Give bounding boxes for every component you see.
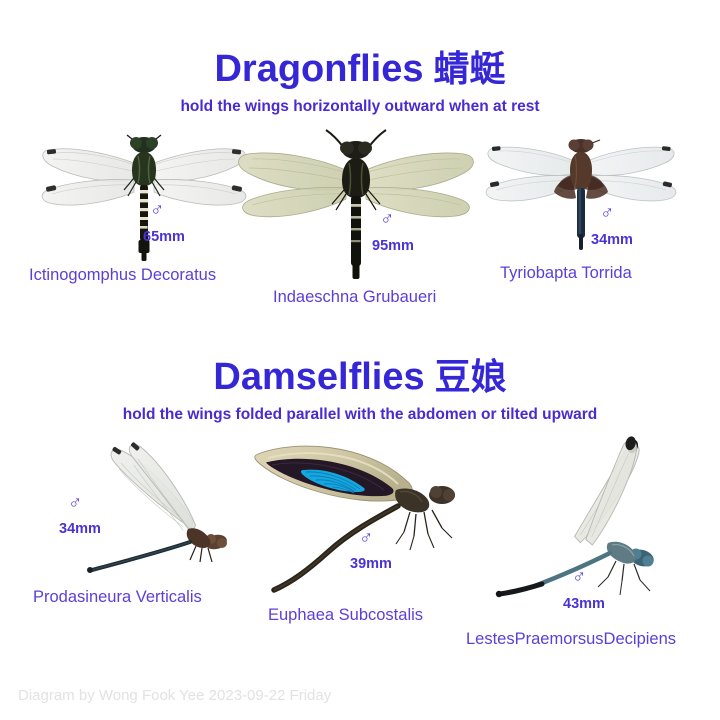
male-symbol-2: ♂: [380, 210, 394, 229]
species-name-euphaea-subcostalis: Euphaea Subcostalis: [268, 607, 423, 624]
specimen-lestes-praemorsus-decipiens: ♂ 43mm: [490, 425, 700, 600]
damselflies-title-en: Damselflies: [213, 356, 424, 398]
damselfly-prodasineura-image: [30, 430, 245, 580]
damselflies-title: Damselflies豆娘: [0, 358, 720, 396]
measure-2: 95mm: [372, 239, 414, 254]
dragonflies-title-cjk: 蜻蜓: [434, 48, 506, 89]
specimen-indaeschna-grubaueri: ♂ 95mm: [232, 126, 480, 281]
measure-5: 39mm: [350, 557, 392, 572]
species-name-lestes-praemorsus-decipiens: LestesPraemorsusDecipiens: [466, 631, 676, 648]
dragonfly-ictinogomphus-image: [28, 128, 258, 268]
damselfly-lestes-image: [490, 425, 700, 600]
specimen-euphaea-subcostalis: ♂ 39mm: [246, 432, 476, 592]
dragonfly-indaeschna-image: [232, 126, 480, 281]
damselflies-title-cjk: 豆娘: [435, 356, 507, 397]
male-symbol-3: ♂: [600, 204, 614, 223]
measure-1: 65mm: [143, 230, 185, 245]
specimen-tyriobapta-torrida: ♂ 34mm: [472, 132, 692, 252]
dragonflies-title: Dragonflies蜻蜓: [0, 50, 720, 88]
specimen-prodasineura-verticalis: ♂ 34mm: [30, 430, 245, 580]
species-name-indaeschna-grubaueri: Indaeschna Grubaueri: [273, 289, 436, 306]
dragonflies-section: Dragonflies蜻蜓 hold the wings horizontall…: [0, 50, 720, 115]
measure-3: 34mm: [591, 233, 633, 248]
specimen-ictinogomphus-decoratus: ♂ 65mm: [28, 128, 258, 268]
damselflies-subtitle: hold the wings folded parallel with the …: [0, 407, 720, 423]
dragonfly-tyriobapta-image: [472, 132, 692, 252]
species-name-ictinogomphus-decoratus: Ictinogomphus Decoratus: [29, 267, 216, 284]
diagram-credit: Diagram by Wong Fook Yee 2023-09-22 Frid…: [18, 688, 331, 703]
male-symbol-5: ♂: [359, 529, 373, 548]
species-name-tyriobapta-torrida: Tyriobapta Torrida: [500, 265, 632, 282]
measure-4: 34mm: [59, 522, 101, 537]
male-symbol-6: ♂: [572, 568, 586, 587]
dragonflies-title-en: Dragonflies: [214, 48, 423, 90]
male-symbol-4: ♂: [68, 494, 82, 513]
dragonflies-subtitle: hold the wings horizontally outward when…: [0, 99, 720, 115]
species-name-prodasineura-verticalis: Prodasineura Verticalis: [33, 589, 202, 606]
measure-6: 43mm: [563, 597, 605, 612]
diagram-canvas: Dragonflies蜻蜓 hold the wings horizontall…: [0, 0, 720, 720]
male-symbol-1: ♂: [150, 201, 164, 220]
damselflies-section: Damselflies豆娘 hold the wings folded para…: [0, 358, 720, 423]
